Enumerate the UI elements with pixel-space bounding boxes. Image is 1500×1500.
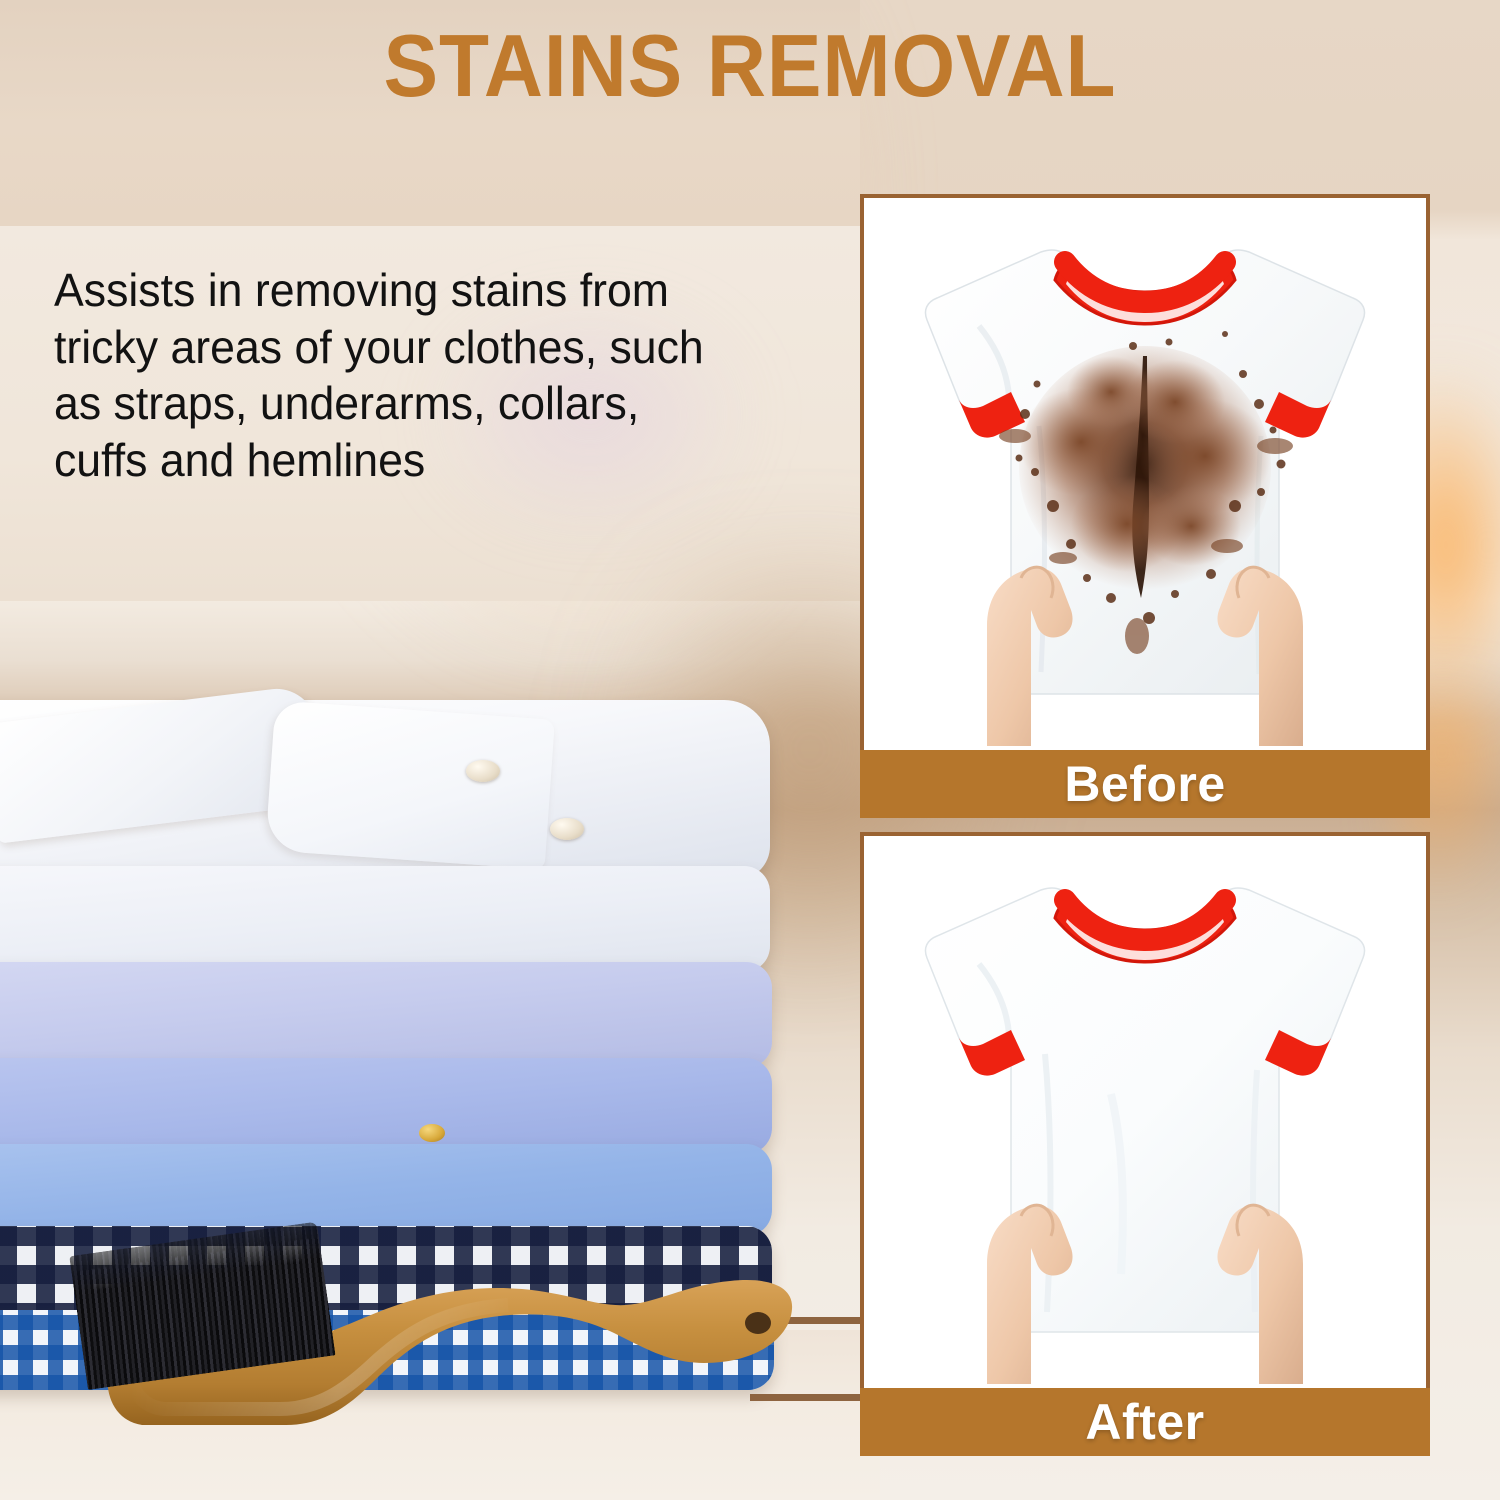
infographic-root: STAINS REMOVAL Assists in removing stain… (0, 0, 1500, 1500)
description-text: Assists in removing stains from tricky a… (54, 262, 733, 488)
after-label-text: After (1085, 1397, 1204, 1447)
after-photo-panel (860, 832, 1430, 1396)
before-label-text: Before (1064, 759, 1225, 809)
shirt-button-second (550, 818, 584, 840)
before-label-bar: Before (860, 750, 1430, 818)
after-shirt-photo (864, 836, 1426, 1392)
stack-layer-light-blue-shirt (0, 1144, 772, 1236)
after-label-bar: After (860, 1388, 1430, 1456)
wooden-laundry-brush (60, 1255, 860, 1485)
stack-layer-white-shirt (0, 866, 770, 972)
stack-layer-white-dress-shirt (0, 700, 770, 880)
before-photo-panel (860, 194, 1430, 758)
stack-layer-periwinkle-shirt (0, 1058, 772, 1154)
stack-layer-lavender-shirt (0, 962, 772, 1068)
laundry-stack-photo (0, 700, 800, 1320)
shirt-button-top (466, 760, 500, 782)
shirt-collar-right (265, 700, 555, 869)
clean-tshirt-illustration (875, 844, 1415, 1384)
before-shirt-photo (864, 198, 1426, 754)
stained-tshirt-illustration (875, 206, 1415, 746)
shirt-button-gold (419, 1124, 445, 1142)
page-title: STAINS REMOVAL (53, 22, 1448, 110)
